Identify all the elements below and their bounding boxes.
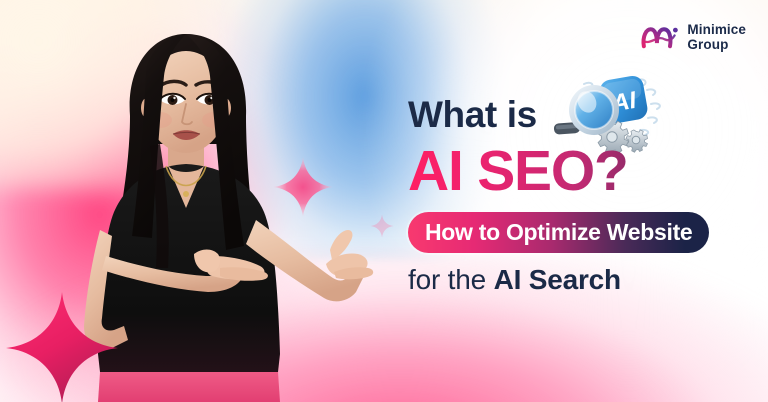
optimize-website-pill[interactable]: How to Optimize Website (408, 212, 709, 253)
headline-line-what-is: What is (408, 96, 758, 133)
ai-seo-banner: Minimice Group (0, 0, 768, 402)
headline-line-for-the-ai-search: for the AI Search (408, 266, 758, 294)
for-the-text: for the (408, 264, 494, 295)
minimice-m-mark-icon (640, 22, 680, 52)
logo-wordmark: Minimice Group (687, 22, 746, 52)
logo-line-1: Minimice (687, 22, 746, 37)
minimice-group-logo[interactable]: Minimice Group (640, 22, 746, 52)
logo-line-2: Group (687, 37, 746, 52)
headline-line-ai-seo: AI SEO? (408, 143, 758, 200)
sparkle-bottom-left-icon (6, 292, 118, 402)
ai-search-text: AI Search (494, 264, 621, 295)
headline-block: What is AI SEO? How to Optimize Website … (408, 96, 758, 294)
